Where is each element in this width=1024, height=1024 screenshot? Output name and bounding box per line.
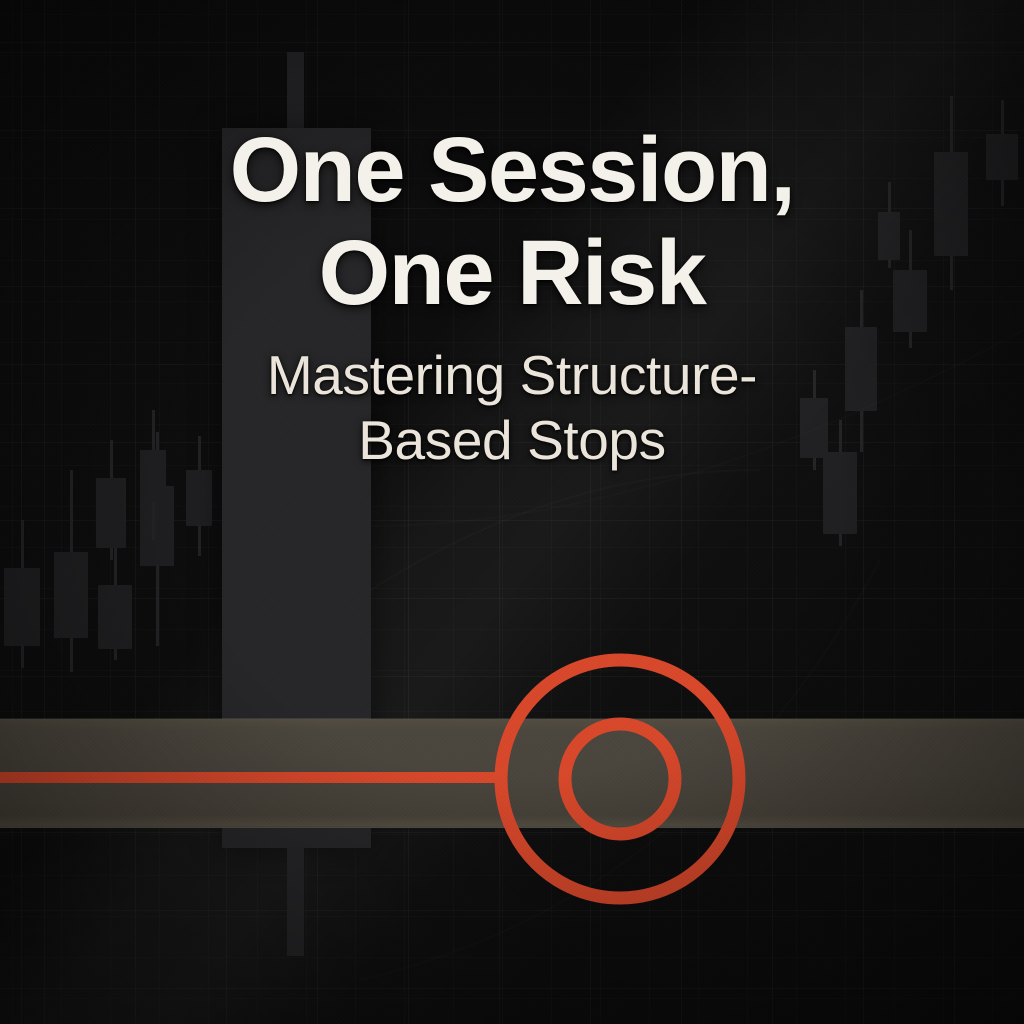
- target-inner-ring: [565, 724, 675, 834]
- primary-candlestick-upper-wick: [287, 52, 304, 132]
- entry-target-marker: [494, 653, 746, 905]
- title-card-canvas: One Session, One Risk Mastering Structur…: [0, 0, 1024, 1024]
- primary-candlestick-lower-wick: [287, 844, 304, 956]
- target-outer-ring: [501, 660, 739, 898]
- stop-loss-line: [0, 772, 500, 783]
